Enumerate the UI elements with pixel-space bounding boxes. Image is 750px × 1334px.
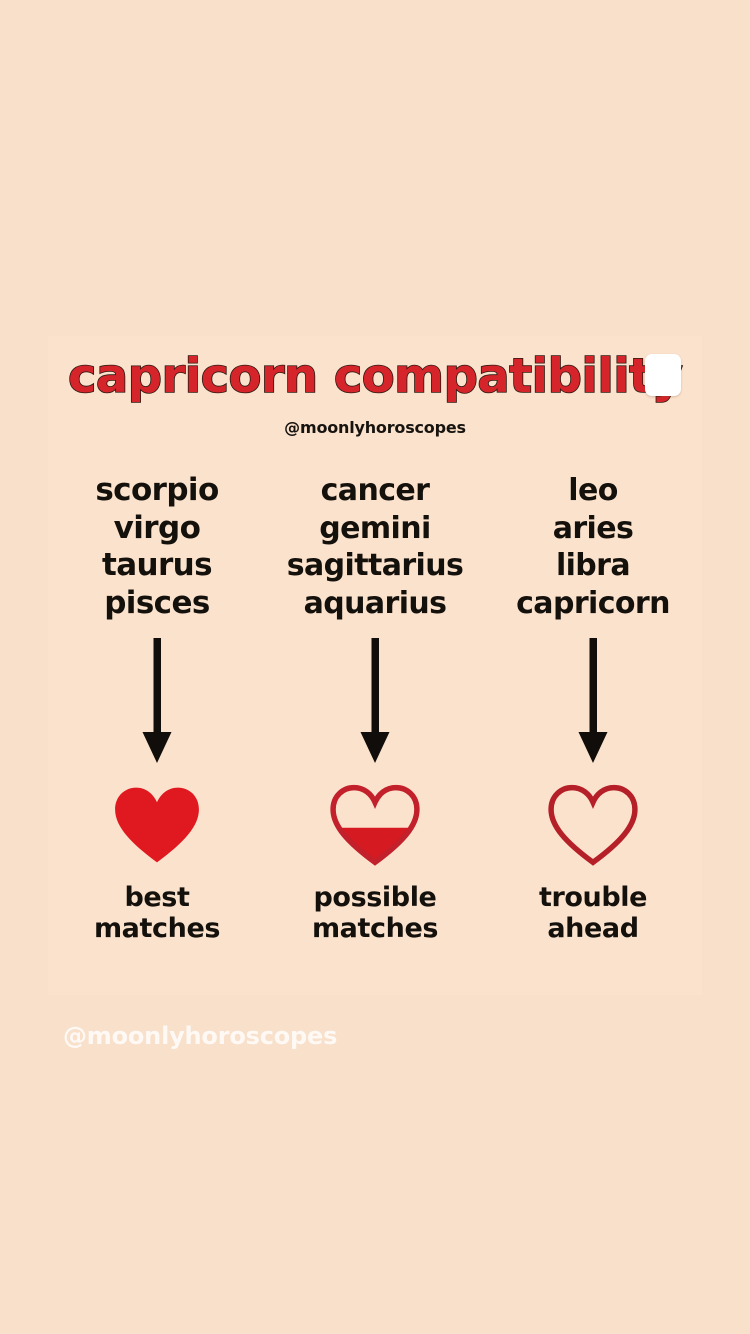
list-item: leo xyxy=(516,472,670,510)
heart-wrapper xyxy=(547,782,639,868)
caption-best-matches: best matches xyxy=(94,882,220,944)
arrow-wrapper xyxy=(575,638,611,770)
header-handle: @moonlyhoroscopes xyxy=(48,418,702,437)
caption-line-1: trouble xyxy=(539,882,647,913)
list-item: scorpio xyxy=(95,472,218,510)
arrow-wrapper xyxy=(357,638,393,770)
title-block: capricorn compatibility xyxy=(48,350,702,404)
heart-filled-icon xyxy=(111,784,203,866)
sign-list-possible-matches: cancer gemini sagittarius aquarius xyxy=(287,472,463,622)
list-item: virgo xyxy=(95,510,218,548)
sign-list-trouble-ahead: leo aries libra capricorn xyxy=(516,472,670,622)
column-possible-matches: cancer gemini sagittarius aquarius xyxy=(266,472,484,944)
list-item: libra xyxy=(516,547,670,585)
list-item: cancer xyxy=(287,472,463,510)
compatibility-card: capricorn compatibility @moonlyhoroscope… xyxy=(48,336,702,995)
down-arrow-icon xyxy=(139,638,175,764)
list-item: aries xyxy=(516,510,670,548)
heart-wrapper xyxy=(329,782,421,868)
caption-line-2: ahead xyxy=(539,913,647,944)
watermark-handle: @moonlyhoroscopes xyxy=(63,1022,337,1050)
column-best-matches: scorpio virgo taurus pisces best matches xyxy=(48,472,266,944)
white-rounded-square-sticker-icon xyxy=(645,354,681,396)
compatibility-columns: scorpio virgo taurus pisces best matches xyxy=(48,472,702,944)
arrow-wrapper xyxy=(139,638,175,770)
caption-line-1: possible xyxy=(312,882,438,913)
list-item: taurus xyxy=(95,547,218,585)
caption-possible-matches: possible matches xyxy=(312,882,438,944)
heart-wrapper xyxy=(111,782,203,868)
list-item: aquarius xyxy=(287,585,463,623)
list-item: capricorn xyxy=(516,585,670,623)
list-item: pisces xyxy=(95,585,218,623)
caption-line-2: matches xyxy=(94,913,220,944)
caption-line-1: best xyxy=(94,882,220,913)
heart-half-filled-icon xyxy=(329,784,421,866)
down-arrow-icon xyxy=(357,638,393,764)
list-item: sagittarius xyxy=(287,547,463,585)
sign-list-best-matches: scorpio virgo taurus pisces xyxy=(95,472,218,622)
column-trouble-ahead: leo aries libra capricorn trouble ahead xyxy=(484,472,702,944)
list-item: gemini xyxy=(287,510,463,548)
caption-line-2: matches xyxy=(312,913,438,944)
down-arrow-icon xyxy=(575,638,611,764)
heart-outline-icon xyxy=(547,784,639,866)
page-title: capricorn compatibility xyxy=(68,350,682,404)
caption-trouble-ahead: trouble ahead xyxy=(539,882,647,944)
